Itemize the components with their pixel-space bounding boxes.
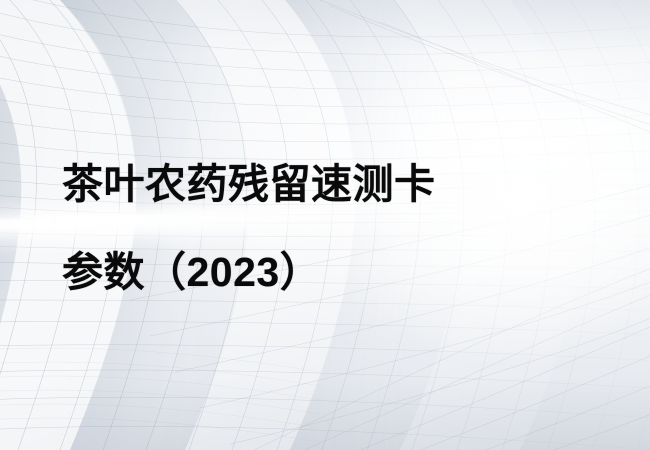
banner-title: 茶叶农药残留速测卡 参数（2023） bbox=[62, 140, 622, 316]
banner-graphic: 茶叶农药残留速测卡 参数（2023） bbox=[0, 0, 650, 450]
title-line-1: 茶叶农药残留速测卡 bbox=[62, 140, 622, 228]
title-line-2: 参数（2023） bbox=[62, 228, 622, 316]
